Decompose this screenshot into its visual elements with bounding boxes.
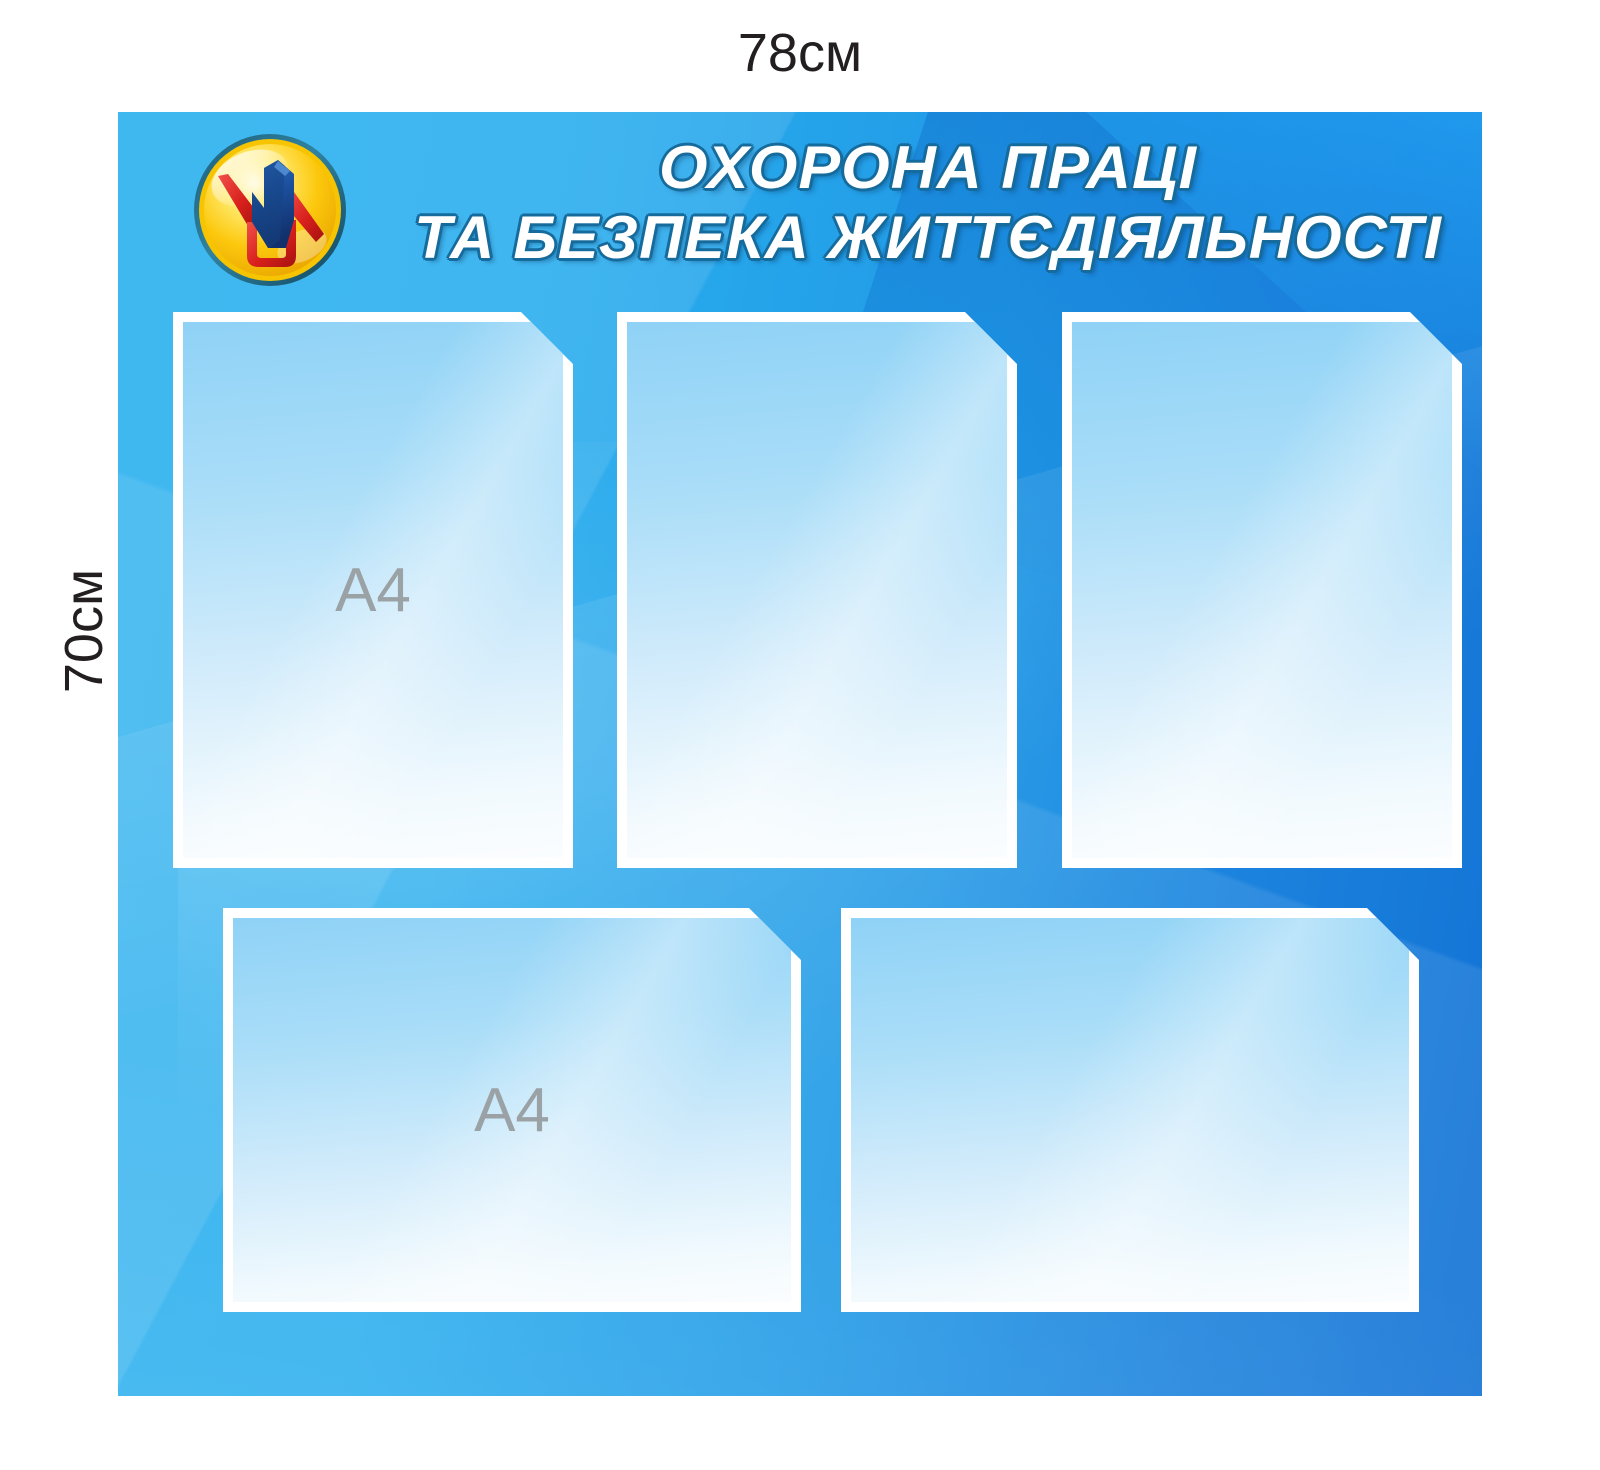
pocket-size-label: A4 — [474, 1075, 550, 1146]
width-dimension-label: 78см — [118, 22, 1482, 84]
pocket-surface — [1072, 322, 1452, 858]
labour-safety-emblem-icon — [190, 130, 350, 290]
information-board: ОХОРОНА ПРАЦІ ТА БЕЗПЕКА ЖИТТЄДІЯЛЬНОСТІ… — [118, 112, 1482, 1396]
document-pocket-portrait-2[interactable] — [617, 312, 1017, 868]
document-pocket-landscape-2[interactable] — [841, 908, 1419, 1312]
board-title: ОХОРОНА ПРАЦІ ТА БЕЗПЕКА ЖИТТЄДІЯЛЬНОСТІ — [388, 138, 1468, 268]
document-pocket-portrait-3[interactable] — [1062, 312, 1462, 868]
height-dimension-label: 70см — [53, 491, 115, 771]
pocket-size-label: A4 — [335, 555, 411, 626]
document-pocket-portrait-1[interactable]: A4 — [173, 312, 573, 868]
pocket-surface — [627, 322, 1007, 858]
board-title-line-1: ОХОРОНА ПРАЦІ — [366, 138, 1482, 198]
board-title-line-2: ТА БЕЗПЕКА ЖИТТЄДІЯЛЬНОСТІ — [377, 208, 1479, 268]
pocket-surface — [851, 918, 1409, 1302]
pocket-surface: A4 — [183, 322, 563, 858]
document-pocket-landscape-1[interactable]: A4 — [223, 908, 801, 1312]
pocket-surface: A4 — [233, 918, 791, 1302]
